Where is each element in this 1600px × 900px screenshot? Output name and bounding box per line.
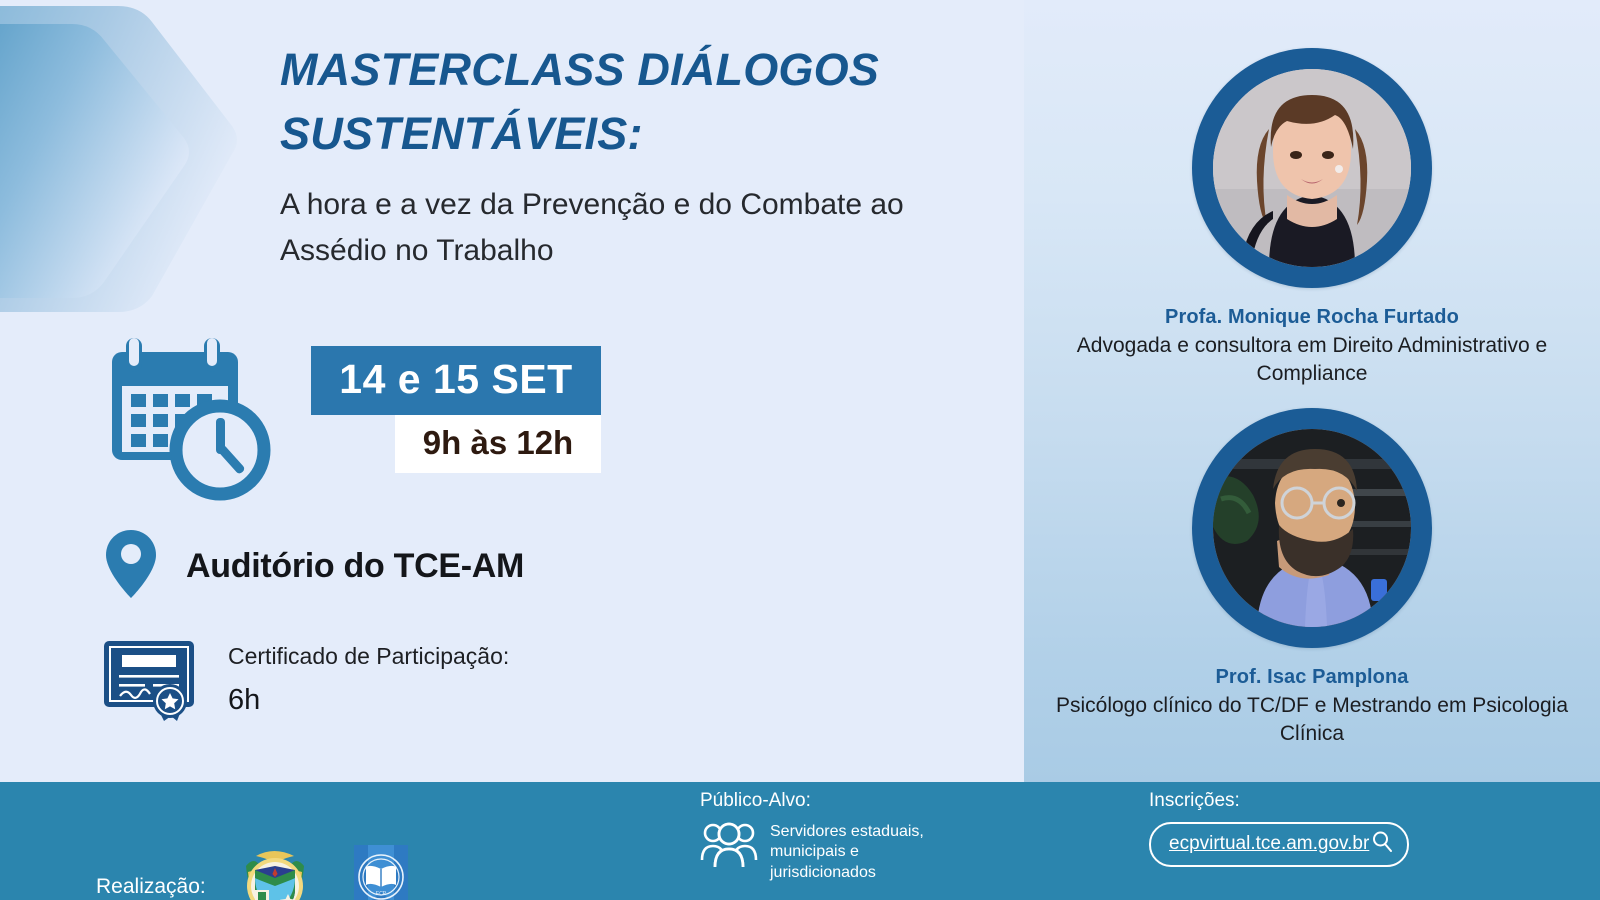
certificate-label: Certificado de Participação: <box>228 639 509 675</box>
certificate-text-group: Certificado de Participação: 6h <box>228 639 509 723</box>
coat-of-arms-amazonas-logo: TRIBUNAL DE CONTAS <box>232 838 318 900</box>
speaker-card-2: Prof. Isac Pamplona Psicólogo clínico do… <box>1024 408 1600 747</box>
certificate-row: Certificado de Participação: 6h <box>100 633 509 730</box>
registration-url-button[interactable]: ecpvirtual.tce.am.gov.br <box>1149 822 1409 867</box>
page-title: MASTERCLASS DIÁLOGOS SUSTENTÁVEIS: <box>280 38 1010 166</box>
date-text-group: 14 e 15 SET 9h às 12h <box>311 346 601 473</box>
date-time-row: 14 e 15 SET 9h às 12h <box>100 330 601 505</box>
speaker-card-1: Profa. Monique Rocha Furtado Advogada e … <box>1024 48 1600 387</box>
ecp-book-logo: ECP <box>346 843 416 900</box>
certificate-icon <box>100 633 200 730</box>
avatar <box>1192 408 1432 648</box>
location-label: Auditório do TCE-AM <box>186 547 524 586</box>
publico-alvo-text: Servidores estaduais, municipais e juris… <box>770 822 960 883</box>
people-group-icon <box>700 820 758 873</box>
poster-root: MASTERCLASS DIÁLOGOS SUSTENTÁVEIS: A hor… <box>0 0 1600 900</box>
speaker-role-1: Advogada e consultora em Direito Adminis… <box>1024 332 1600 387</box>
realizacao-label: Realização: <box>96 875 206 899</box>
speaker-photo-1 <box>1213 69 1411 267</box>
map-pin-icon <box>104 528 158 605</box>
calendar-clock-icon <box>100 330 295 505</box>
certificate-hours: 6h <box>228 678 509 723</box>
magnifier-icon <box>1371 830 1393 858</box>
inscricoes-group: Inscrições: ecpvirtual.tce.am.gov.br <box>1149 790 1449 867</box>
svg-text:ECP: ECP <box>376 891 387 897</box>
title-block: MASTERCLASS DIÁLOGOS SUSTENTÁVEIS: A hor… <box>280 38 1010 275</box>
page-subtitle: A hora e a vez da Prevenção e do Combate… <box>280 182 1010 275</box>
speaker-photo-2 <box>1213 429 1411 627</box>
avatar <box>1192 48 1432 288</box>
inscricoes-label: Inscrições: <box>1149 790 1449 812</box>
speaker-role-2: Psicólogo clínico do TC/DF e Mestrando e… <box>1024 692 1600 747</box>
registration-url-text: ecpvirtual.tce.am.gov.br <box>1169 833 1369 855</box>
speaker-name-1: Profa. Monique Rocha Furtado <box>1024 306 1600 329</box>
time-box: 9h às 12h <box>395 415 601 473</box>
speaker-name-2: Prof. Isac Pamplona <box>1024 666 1600 689</box>
date-banner: 14 e 15 SET <box>311 346 601 415</box>
publico-alvo-label: Público-Alvo: <box>700 790 960 812</box>
publico-alvo-group: Público-Alvo: Servidores estaduais, muni… <box>700 790 960 883</box>
location-row: Auditório do TCE-AM <box>104 528 524 605</box>
realizacao-group: Realização: TRIBUNAL DE CONTAS <box>96 838 416 900</box>
